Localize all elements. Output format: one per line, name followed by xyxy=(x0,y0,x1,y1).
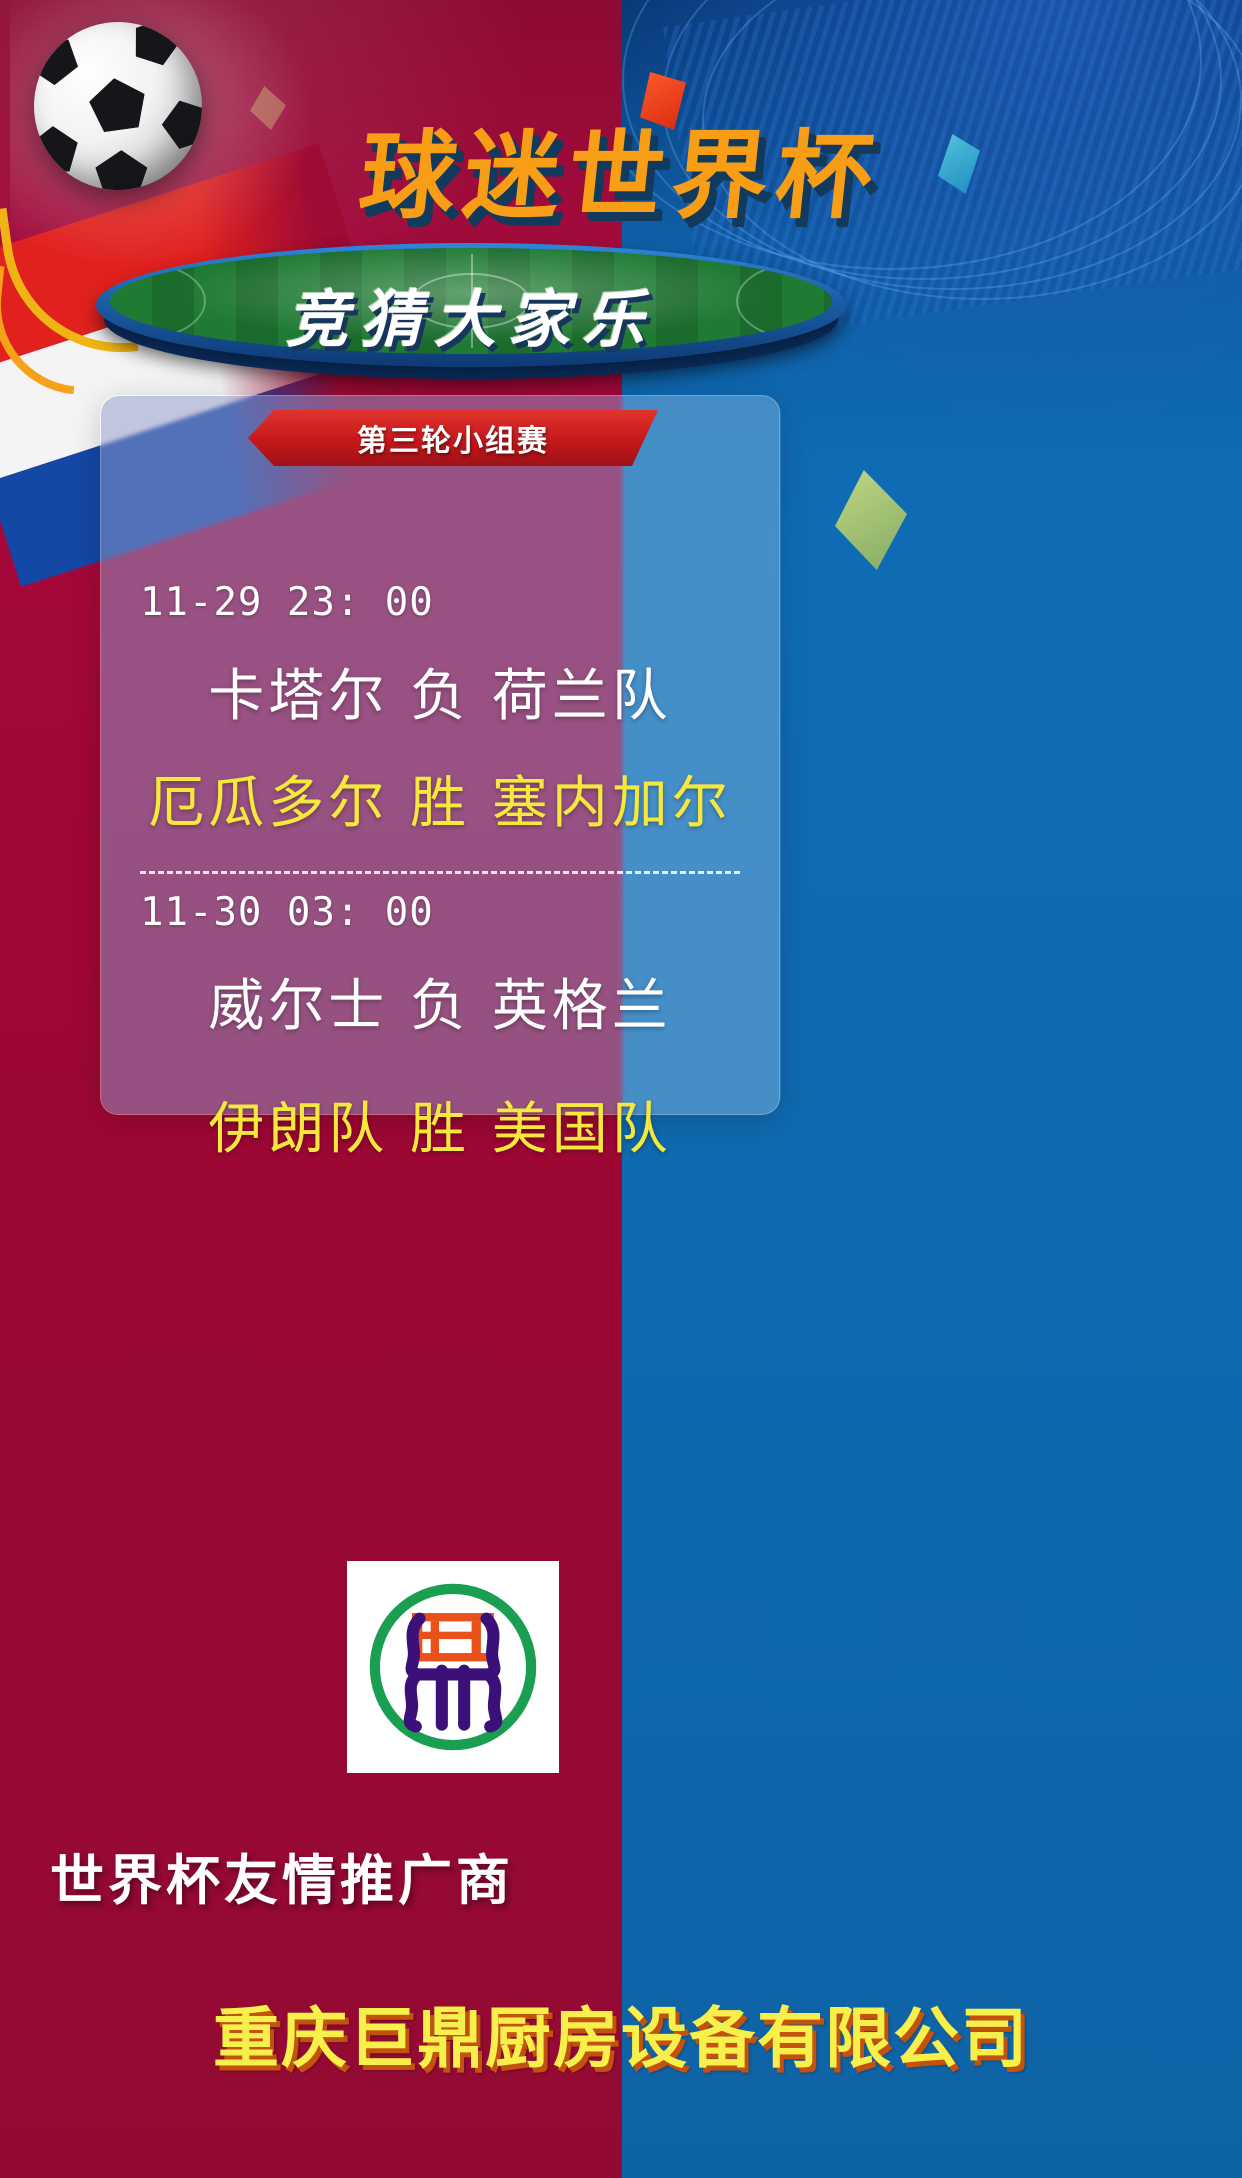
match-row: 伊朗队 胜 美国队 xyxy=(100,1084,780,1165)
company-name: 重庆巨鼎厨房设备有限公司 xyxy=(0,1985,1242,2081)
match-date-1: 11-29 23: 00 xyxy=(100,580,780,625)
match-row: 卡塔尔 负 荷兰队 xyxy=(100,651,780,732)
match-divider xyxy=(140,871,740,874)
subtitle: 竞猜大家乐 xyxy=(96,269,846,359)
match-list: 11-29 23: 00 卡塔尔 负 荷兰队 厄瓜多尔 胜 塞内加尔 11-30… xyxy=(100,470,780,1165)
match-row: 威尔士 负 英格兰 xyxy=(100,961,780,1042)
match-date-2: 11-30 03: 00 xyxy=(100,890,780,935)
ding-tripod-logo-icon xyxy=(360,1574,546,1760)
page-title: 球迷世界杯 xyxy=(0,98,1242,237)
match-row: 厄瓜多尔 胜 塞内加尔 xyxy=(100,758,780,839)
pitch-oval-banner: 竞猜大家乐 xyxy=(96,243,846,383)
sponsor-logo xyxy=(347,1561,559,1773)
poster-root: 球迷世界杯 竞猜大家乐 第三轮小组赛 11-29 23: 00 卡塔尔 负 荷兰… xyxy=(0,0,1242,2178)
round-label: 第三轮小组赛 xyxy=(248,410,658,466)
promo-label: 世界杯友情推广商 xyxy=(50,1836,514,1915)
